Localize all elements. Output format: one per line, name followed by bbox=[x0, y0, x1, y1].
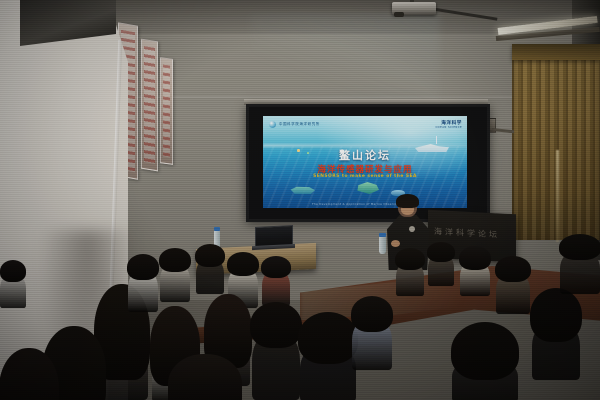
wall-banner bbox=[141, 39, 158, 172]
audience-member-head bbox=[495, 256, 531, 282]
audience-member bbox=[196, 244, 224, 294]
audience-member-head bbox=[395, 248, 425, 270]
audience-member-head bbox=[127, 254, 159, 280]
audience-member-head bbox=[227, 252, 259, 276]
audience-member-head bbox=[168, 354, 242, 400]
audience-member-head bbox=[0, 260, 26, 282]
audience-member bbox=[252, 302, 300, 400]
audience-member-head bbox=[451, 322, 519, 380]
slide-footer-text: The Development & Application of Marine … bbox=[263, 202, 467, 206]
audience-member-head bbox=[427, 242, 455, 262]
audience-member-head bbox=[0, 348, 59, 400]
audience-member-head bbox=[250, 302, 302, 348]
audience-member-head bbox=[159, 248, 191, 272]
audience-member-head bbox=[261, 256, 291, 278]
curtain-valance bbox=[512, 44, 600, 60]
slide-title: 鳌山论坛 bbox=[263, 147, 467, 163]
audience-member bbox=[460, 246, 490, 296]
audience-member-head bbox=[298, 312, 358, 364]
audience-member bbox=[128, 254, 158, 312]
audience-member bbox=[0, 260, 26, 308]
audience-member bbox=[300, 312, 356, 400]
audience-member bbox=[170, 354, 240, 400]
slide-logo-text: 中国科学院海洋研究所 bbox=[279, 121, 320, 126]
presenter-hair bbox=[396, 194, 419, 208]
audience bbox=[0, 230, 600, 400]
audience-member bbox=[532, 288, 580, 380]
audience-member-head bbox=[351, 296, 393, 332]
audience-member bbox=[560, 234, 600, 294]
audience-member bbox=[452, 322, 518, 400]
audience-member bbox=[160, 248, 190, 302]
audience-member-head bbox=[530, 288, 582, 342]
projector-beam bbox=[250, 14, 440, 110]
wall-banner bbox=[160, 57, 173, 165]
curtain-light-gap bbox=[556, 150, 559, 242]
audience-member bbox=[428, 242, 454, 286]
audience-member-head bbox=[559, 234, 600, 260]
slide-subtitle-en: SENSORS to make sense of the SEA bbox=[263, 174, 467, 179]
audience-member bbox=[396, 248, 424, 296]
projection-screen: 中国科学院海洋研究所 海洋科学 OCEAN SCIENCE 鳌山论坛 海洋传感器… bbox=[246, 104, 490, 222]
slide-corner-subtext: OCEAN SCIENCE bbox=[436, 126, 462, 129]
lecture-hall-photo: 中国科学院海洋研究所 海洋科学 OCEAN SCIENCE 鳌山论坛 海洋传感器… bbox=[0, 0, 600, 400]
audience-member-head bbox=[195, 244, 225, 267]
projector-lens bbox=[394, 12, 404, 17]
presentation-slide: 中国科学院海洋研究所 海洋科学 OCEAN SCIENCE 鳌山论坛 海洋传感器… bbox=[263, 116, 467, 208]
audience-member bbox=[496, 256, 530, 314]
audience-member bbox=[0, 348, 58, 400]
vessel-mast-icon bbox=[436, 136, 437, 144]
audience-member bbox=[262, 256, 290, 306]
audience-member bbox=[352, 296, 392, 370]
institute-logo-icon bbox=[269, 121, 276, 128]
audience-member-head bbox=[459, 246, 491, 270]
